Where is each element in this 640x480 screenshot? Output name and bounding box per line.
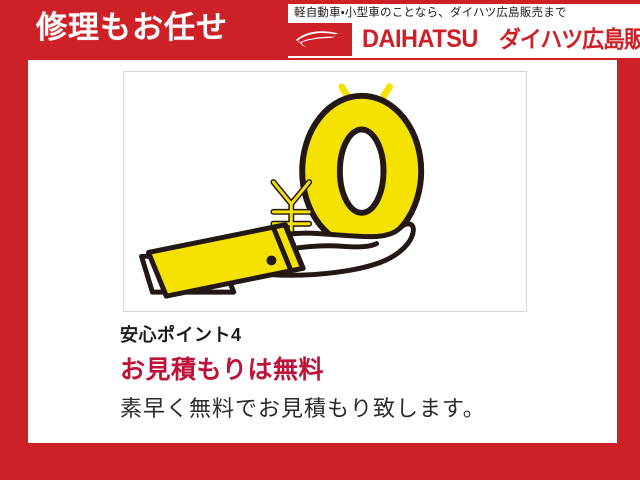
banner-header: 修理もお任せ 軽自動車・小型車のことなら、ダイハツ広島販売まで DAIHATSU… [0,0,640,60]
logo-wordmark: DAIHATSU [362,23,478,56]
daihatsu-d-emblem-icon [288,23,352,56]
content-panel: 安心ポイント4 お見積もりは無料 素早く無料でお見積もり致します。 [28,60,617,443]
sleeve-button-dot [266,255,276,265]
caption-body: 素早く無料でお見積もり致します。 [120,394,590,424]
logo-dealer-name: ダイハツ広島販売 [499,23,640,56]
logo-row: DAIHATSU ダイハツ広島販売 [288,23,640,56]
brand-logo-lockup: 軽自動車・小型車のことなら、ダイハツ広島販売まで DAIHATSU ダイハツ広島… [288,4,640,58]
caption-title: お見積もりは無料 [120,354,590,386]
caption-eyebrow: 安心ポイント4 [120,322,590,348]
illustration-frame [123,71,527,312]
hand-holding-zero-yen-illustration [124,72,526,311]
headline-text: 修理もお任せ [36,6,228,50]
advertisement-banner: 修理もお任せ 軽自動車・小型車のことなら、ダイハツ広島販売まで DAIHATSU… [0,0,640,480]
caption-block: 安心ポイント4 お見積もりは無料 素早く無料でお見積もり致します。 [120,322,590,424]
sleeve-body [148,225,303,296]
logo-tagline: 軽自動車・小型車のことなら、ダイハツ広島販売まで [294,5,567,22]
